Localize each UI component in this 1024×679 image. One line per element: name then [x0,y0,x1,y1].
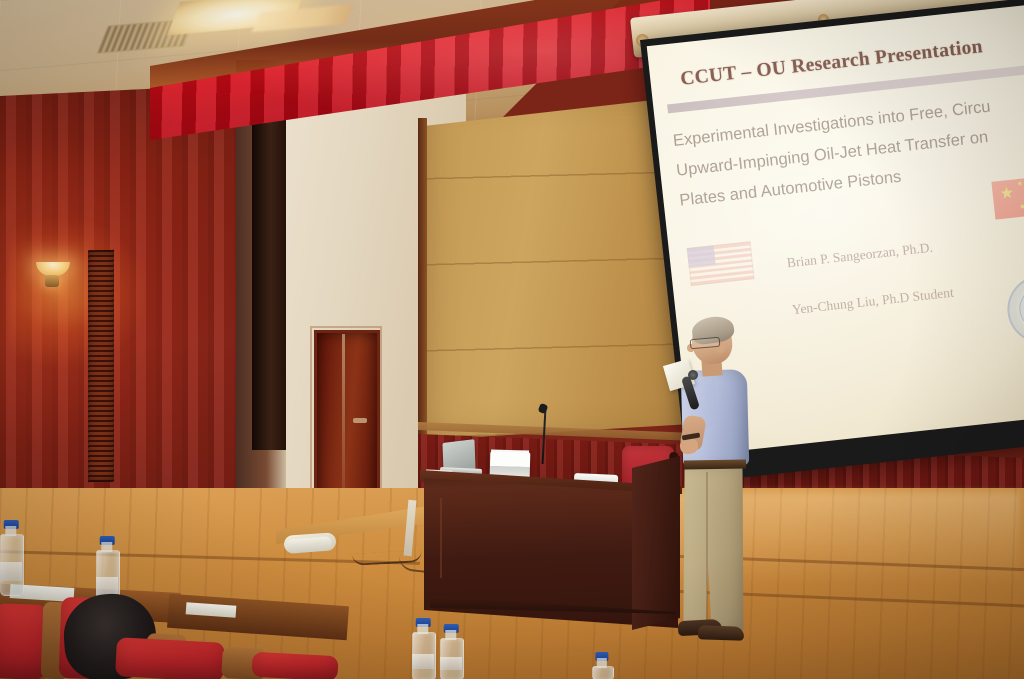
bottle-neck [417,624,428,634]
china-flag-star-big: ★ [999,186,1015,203]
bottle-label [96,577,118,596]
slide-title: CCUT – OU Research Presentation [679,31,1024,91]
bottle-body [412,632,436,679]
podium-side-panel [632,456,680,630]
water-bottle[interactable] [412,632,434,679]
door-seam [342,334,345,504]
white-device [490,451,531,478]
slide-authors: Brian P. Sangeorzan, Ph.D. Yen-Chung Liu… [784,208,1024,333]
presenter-shoe-right [698,625,744,641]
water-bottle[interactable] [592,666,612,679]
sconce-glow [8,218,148,368]
presentation-photo-scene: CCUT – OU Research Presentation Experime… [0,0,1024,679]
door-handle[interactable] [353,418,367,423]
china-flag-star-4: ★ [1019,203,1024,211]
bottle-neck [5,526,16,536]
audience-chair-seat[interactable] [115,637,225,679]
water-bottle[interactable] [440,638,462,679]
bottle-body [0,534,24,596]
audience-chair-seat[interactable] [251,652,338,679]
us-flag-canton [687,245,716,267]
presenter-trouser-crease [706,472,708,622]
bottle-label [412,654,434,669]
bottle-label [440,657,462,670]
bottle-label [0,562,22,581]
china-flag-icon: ★ ★ ★ ★ ★ [991,176,1024,220]
bottle-body [440,638,464,679]
bottle-neck [445,630,456,640]
presenter [676,320,762,640]
water-bottle[interactable] [0,534,22,594]
bottle-neck [101,542,112,552]
panel-left-edge [418,118,427,444]
louvered-wall-strip [88,250,114,483]
stage-door[interactable] [314,330,380,511]
wall-sconce-base [45,275,59,287]
china-flag-star-1: ★ [1016,180,1023,188]
dark-curtain-gap [252,120,286,450]
presenter-belt [684,459,746,469]
presenter-trousers [681,465,750,630]
handheld-microphone-head [688,370,698,380]
bottle-neck [597,658,607,668]
